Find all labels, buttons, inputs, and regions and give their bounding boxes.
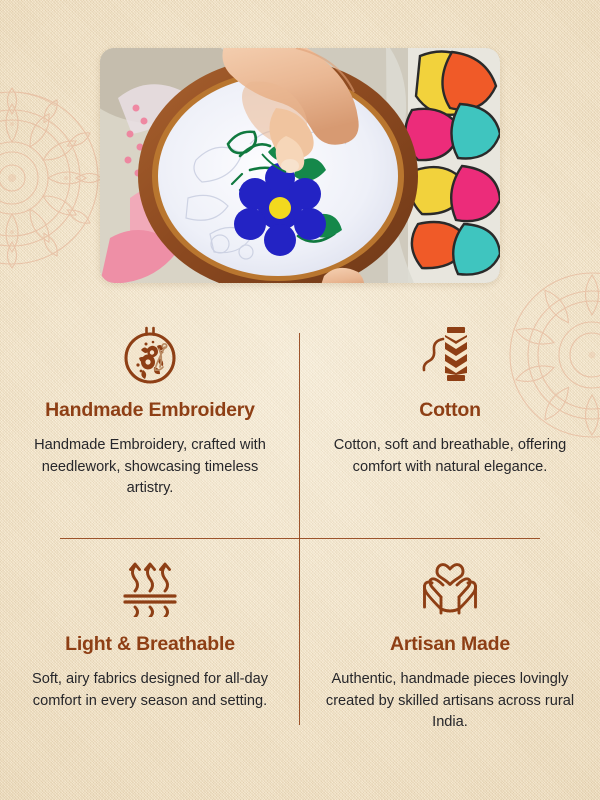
embroidery-hoop-icon	[119, 321, 181, 387]
feature-description: Authentic, handmade pieces lovingly crea…	[324, 669, 576, 733]
grid-horizontal-divider	[60, 538, 540, 539]
embroidery-photo-illustration	[100, 48, 500, 283]
breathable-airflow-icon	[119, 555, 181, 621]
hero-image	[100, 48, 500, 283]
feature-item-artisan-made: Artisan Made Authentic, handmade pieces …	[300, 555, 600, 734]
thread-spool-icon	[421, 321, 479, 387]
feature-title: Artisan Made	[390, 633, 510, 656]
feature-title: Cotton	[419, 399, 481, 422]
feature-item-cotton: Cotton Cotton, soft and breathable, offe…	[300, 321, 600, 478]
feature-item-handmade-embroidery: Handmade Embroidery Handmade Embroidery,…	[0, 321, 300, 500]
feature-panel: Handmade Embroidery Handmade Embroidery,…	[0, 0, 600, 800]
feature-description: Cotton, soft and breathable, offering co…	[324, 435, 576, 478]
mandala-ornament-left	[0, 78, 112, 278]
hands-holding-heart-icon	[417, 555, 483, 621]
feature-grid: Handmade Embroidery Handmade Embroidery,…	[0, 305, 600, 755]
feature-description: Soft, airy fabrics designed for all-day …	[24, 669, 276, 712]
feature-description: Handmade Embroidery, crafted with needle…	[24, 435, 276, 499]
feature-title: Handmade Embroidery	[45, 399, 255, 422]
feature-title: Light & Breathable	[65, 633, 235, 656]
feature-item-light-breathable: Light & Breathable Soft, airy fabrics de…	[0, 555, 300, 712]
